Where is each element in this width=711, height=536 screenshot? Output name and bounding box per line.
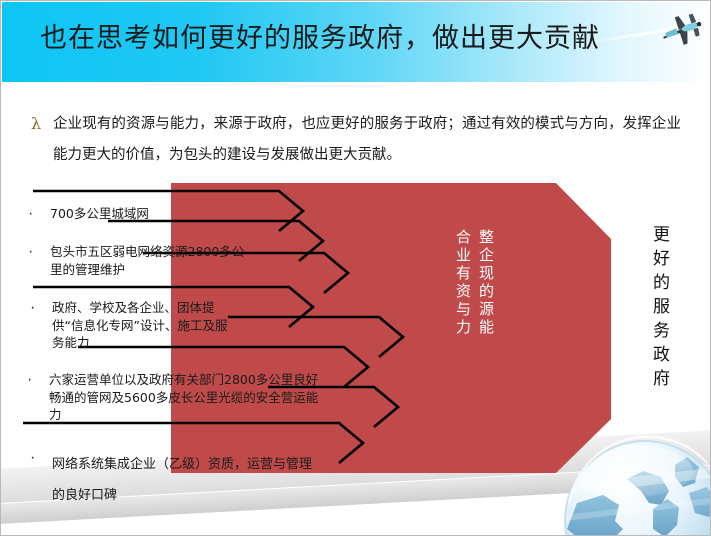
list-item-bullet: · xyxy=(25,243,50,260)
central-shape-text-col-1: 整企现的源能 xyxy=(475,229,496,337)
list-item-label: 包头市五区弱电网络资源2800多公里的管理维护 xyxy=(50,243,250,278)
list-item-bullet: · xyxy=(27,299,52,316)
right-vertical-label: 更好的服务政府 xyxy=(647,225,672,393)
list-item: · 六家运营单位以及政府有关部门2800多公里良好畅通的管网及5600多皮长公里… xyxy=(24,371,329,424)
list-item-label: 政府、学校及各企业、团体提供“信息化专网”设计、施工及服务能力 xyxy=(52,299,237,352)
list-item-label: 700多公里城域网 xyxy=(50,205,149,222)
central-shape-text: 整企现的源能 合业有资与力 xyxy=(426,229,496,337)
slide-canvas: 也在思考如何更好的服务政府，做出更大贡献 λ 企业现有的资源与能力，来源于政府，… xyxy=(0,0,711,536)
slide-header: 也在思考如何更好的服务政府，做出更大贡献 xyxy=(2,2,711,82)
central-shape-text-col-2: 合业有资与力 xyxy=(452,229,473,337)
globe-graphic xyxy=(557,425,711,536)
list-item-label: 网络系统集成企业（乙级）资质，运营与管理的良好口碑 xyxy=(52,449,317,511)
list-item: · 网络系统集成企业（乙级）资质，运营与管理的良好口碑 xyxy=(27,449,327,511)
page-title: 也在思考如何更好的服务政府，做出更大贡献 xyxy=(40,16,600,55)
list-item-label: 六家运营单位以及政府有关部门2800多公里良好畅通的管网及5600多皮长公里光缆… xyxy=(49,371,324,424)
list-item-bullet: · xyxy=(24,371,49,388)
airplane-icon xyxy=(657,10,705,50)
list-item: · 包头市五区弱电网络资源2800多公里的管理维护 xyxy=(25,243,255,278)
list-item-bullet: · xyxy=(27,449,52,466)
list-item-bullet: · xyxy=(25,205,50,222)
lambda-bullet-icon: λ xyxy=(31,109,53,139)
lead-paragraph-text: 企业现有的资源与能力，来源于政府，也应更好的服务于政府；通过有效的模式与方向，发… xyxy=(53,109,681,171)
list-item: · 政府、学校及各企业、团体提供“信息化专网”设计、施工及服务能力 xyxy=(27,299,242,352)
lead-paragraph: λ 企业现有的资源与能力，来源于政府，也应更好的服务于政府；通过有效的模式与方向… xyxy=(31,109,681,171)
list-item: · 700多公里城域网 xyxy=(25,205,149,222)
